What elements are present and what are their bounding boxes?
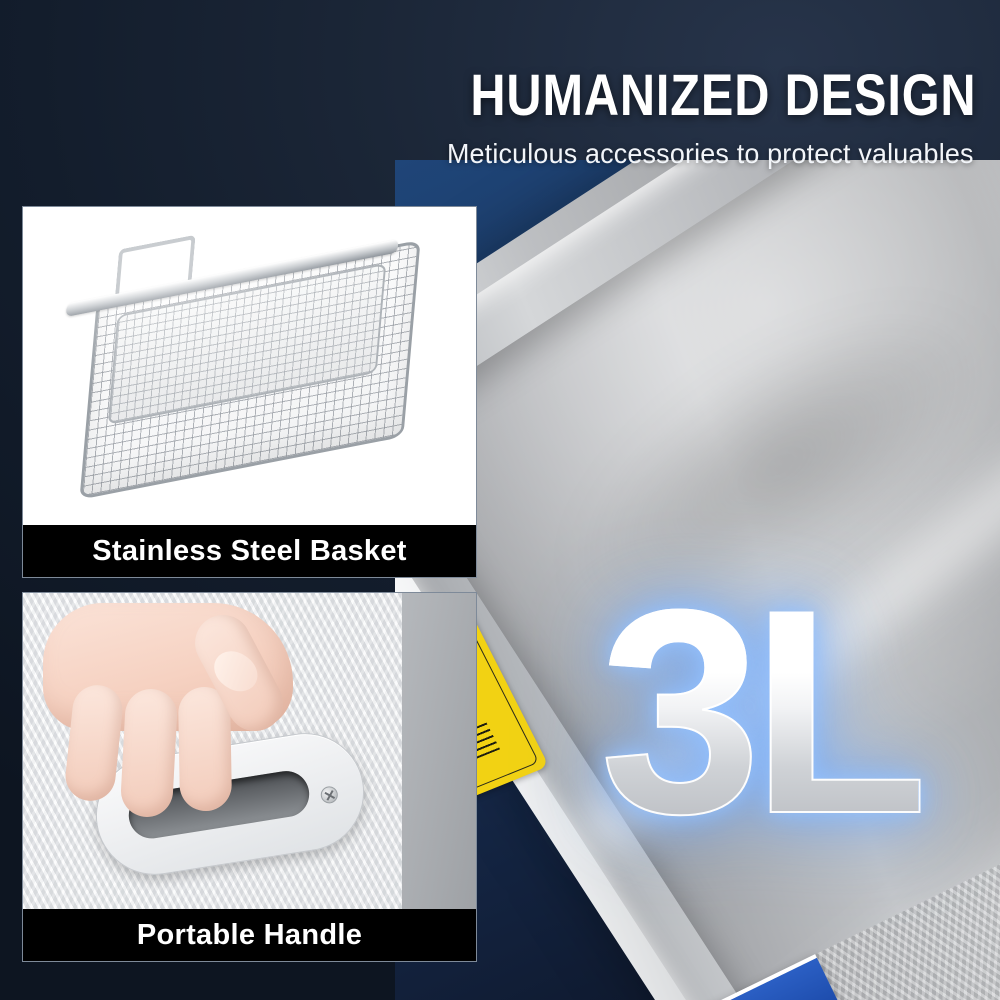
page-title: HUMANIZED DESIGN: [470, 62, 976, 129]
capacity-badge: 3L: [600, 588, 918, 837]
hand-icon: [43, 593, 343, 808]
handle-scene: [23, 593, 476, 909]
feature-card-caption: Stainless Steel Basket: [23, 525, 476, 577]
finger: [120, 688, 179, 819]
stainless-steel-basket-photo: [23, 207, 476, 525]
page-subtitle: Meticulous accessories to protect valuab…: [447, 138, 974, 170]
promo-banner: e tank ! ce vice, can drain tank ! 3L HU…: [0, 0, 1000, 1000]
panel-edge: [402, 593, 476, 909]
portable-handle-photo: [23, 593, 476, 909]
feature-card-caption: Portable Handle: [23, 909, 476, 961]
wire-mesh-basket-icon: [69, 245, 429, 494]
feature-card-handle: Portable Handle: [22, 592, 477, 962]
feature-card-basket: Stainless Steel Basket: [22, 206, 477, 578]
